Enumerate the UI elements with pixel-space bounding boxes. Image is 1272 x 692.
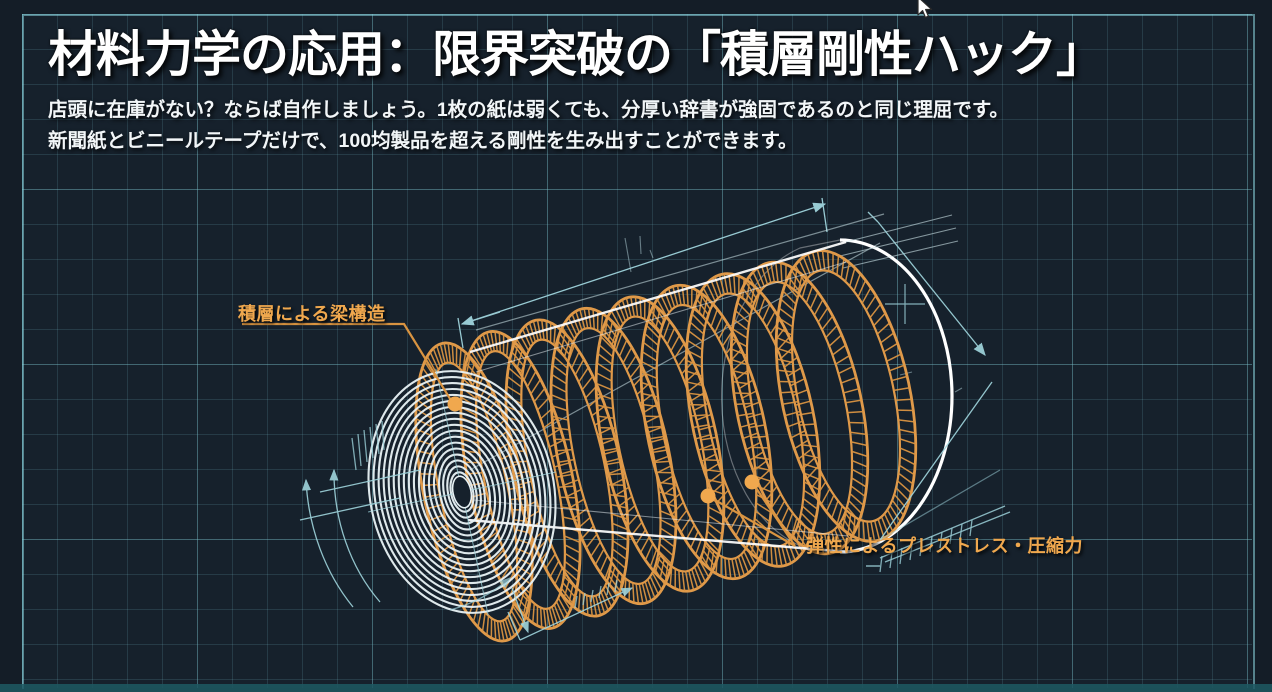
bottom-accent-band bbox=[0, 684, 1272, 692]
dimension-diameter-right bbox=[866, 212, 1010, 572]
subtitle-line-2: 新聞紙とビニールテープだけで、100均製品を超える剛性を生み出すことができます。 bbox=[48, 126, 1208, 158]
page-subtitle: 店頭に在庫がない？ならば自作しましょう。1枚の紙は弱くても、分厚い辞書が強固であ… bbox=[48, 95, 1208, 158]
header-block: 材料力学の応用：限界突破の「積層剛性ハック」 店頭に在庫がない？ならば自作しまし… bbox=[48, 28, 1208, 158]
roll-hub bbox=[450, 474, 474, 509]
top-gutter bbox=[0, 0, 1272, 14]
dimension-length-top bbox=[458, 198, 827, 348]
left-gutter bbox=[0, 0, 22, 692]
callout-label-layered-beam: 積層による梁構造 bbox=[238, 300, 385, 326]
callout-label-prestress: 弾性によるプレストレス・圧縮力 bbox=[806, 532, 1083, 558]
dimension-diameter-left bbox=[300, 421, 420, 607]
subtitle-line-1: 店頭に在庫がない？ならば自作しましょう。1枚の紙は弱くても、分厚い辞書が強固であ… bbox=[48, 95, 1208, 127]
slide-canvas: 材料力学の応用：限界突破の「積層剛性ハック」 店頭に在庫がない？ならば自作しまし… bbox=[0, 0, 1272, 692]
page-title: 材料力学の応用：限界突破の「積層剛性ハック」 bbox=[48, 28, 1208, 83]
mouse-pointer-icon bbox=[916, 0, 934, 22]
